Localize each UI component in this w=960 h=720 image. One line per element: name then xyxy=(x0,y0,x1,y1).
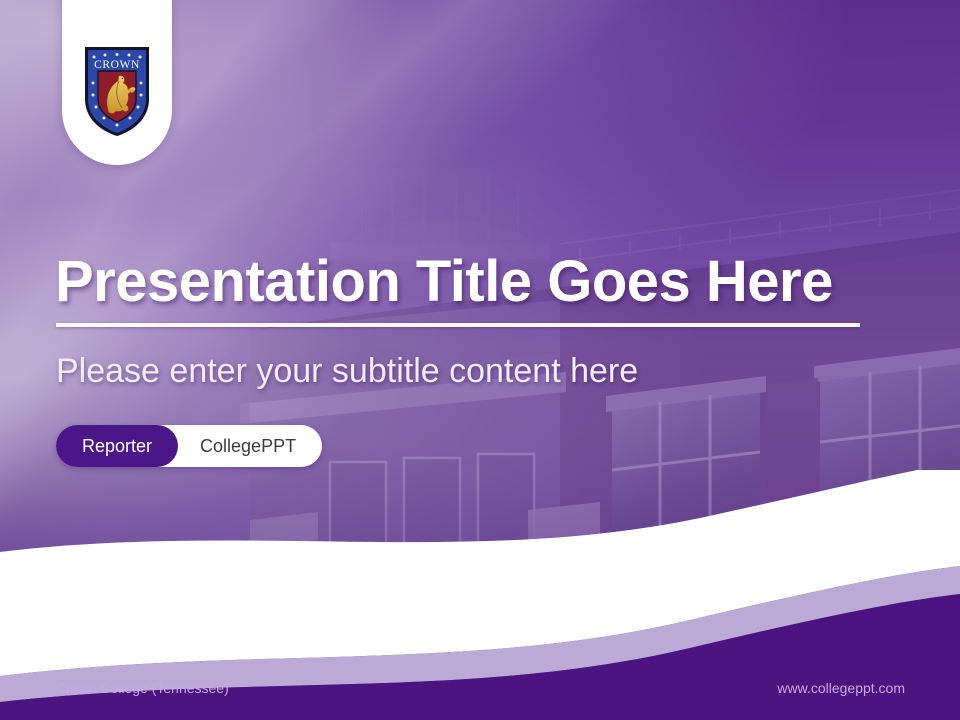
reporter-value: CollegePPT xyxy=(178,425,322,467)
presentation-cover-slide: CROWN Presentation Title Goes Here Pleas… xyxy=(0,0,960,720)
reporter-badge[interactable]: Reporter CollegePPT xyxy=(56,425,322,467)
footer-website[interactable]: www.collegeppt.com xyxy=(777,680,905,696)
svg-text:CROWN: CROWN xyxy=(94,59,140,71)
reporter-label: Reporter xyxy=(56,425,178,467)
crown-college-crest-icon: CROWN xyxy=(81,43,153,139)
footer-institution: Crown College (Tennessee) xyxy=(56,680,229,696)
page-subtitle: Please enter your subtitle content here xyxy=(56,352,638,391)
title-divider-rule xyxy=(56,323,860,327)
page-title: Presentation Title Goes Here xyxy=(55,248,833,315)
logo-banner: CROWN xyxy=(62,0,172,165)
